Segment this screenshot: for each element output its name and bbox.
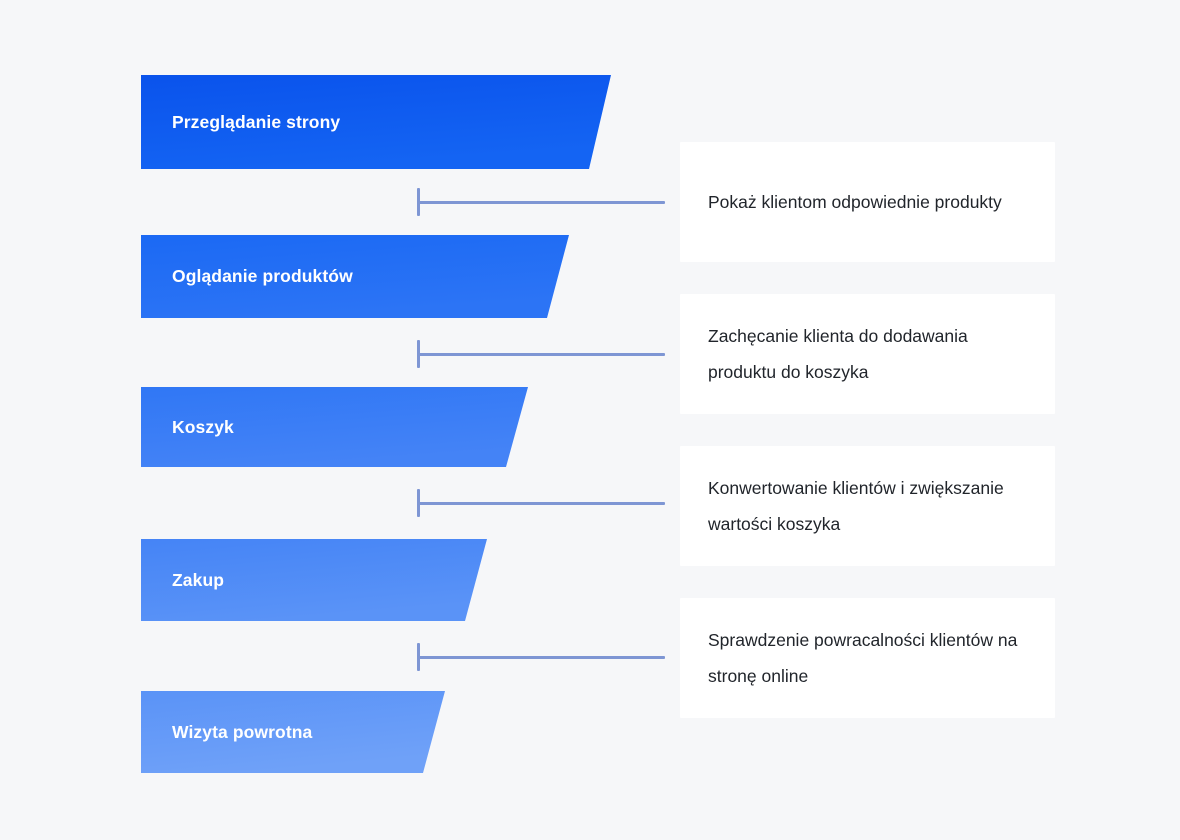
funnel-info-card-1-text: Pokaż klientom odpowiednie produkty [680,184,1030,220]
funnel-stage-2-label: Oglądanie produktów [141,266,353,287]
connector-3-line [417,502,665,505]
funnel-stage-3[interactable]: Koszyk [141,387,528,467]
funnel-stage-1-label: Przeglądanie strony [141,112,340,133]
funnel-stage-3-label: Koszyk [141,417,234,438]
connector-2-line [417,353,665,356]
funnel-info-card-3[interactable]: Konwertowanie klientów i zwiększanie war… [680,446,1055,566]
funnel-stage-4[interactable]: Zakup [141,539,487,621]
funnel-connector-1 [417,188,665,216]
connector-1-line [417,201,665,204]
connector-4-line [417,656,665,659]
funnel-stage-1[interactable]: Przeglądanie strony [141,75,611,169]
funnel-info-card-2-text: Zachęcanie klienta do dodawania produktu… [680,318,1055,390]
funnel-info-card-2[interactable]: Zachęcanie klienta do dodawania produktu… [680,294,1055,414]
funnel-stage-2[interactable]: Oglądanie produktów [141,235,569,318]
funnel-stage-4-label: Zakup [141,570,224,591]
funnel-info-card-4[interactable]: Sprawdzenie powracalności klientów na st… [680,598,1055,718]
funnel-connector-4 [417,643,665,671]
funnel-connector-2 [417,340,665,368]
funnel-stage-5-label: Wizyta powrotna [141,722,312,743]
funnel-info-card-4-text: Sprawdzenie powracalności klientów na st… [680,622,1055,694]
funnel-connector-3 [417,489,665,517]
funnel-diagram: Przeglądanie strony Oglądanie produktów [0,0,1180,840]
funnel-info-card-3-text: Konwertowanie klientów i zwiększanie war… [680,470,1055,542]
funnel-stage-5[interactable]: Wizyta powrotna [141,691,445,773]
funnel-info-card-1[interactable]: Pokaż klientom odpowiednie produkty [680,142,1055,262]
